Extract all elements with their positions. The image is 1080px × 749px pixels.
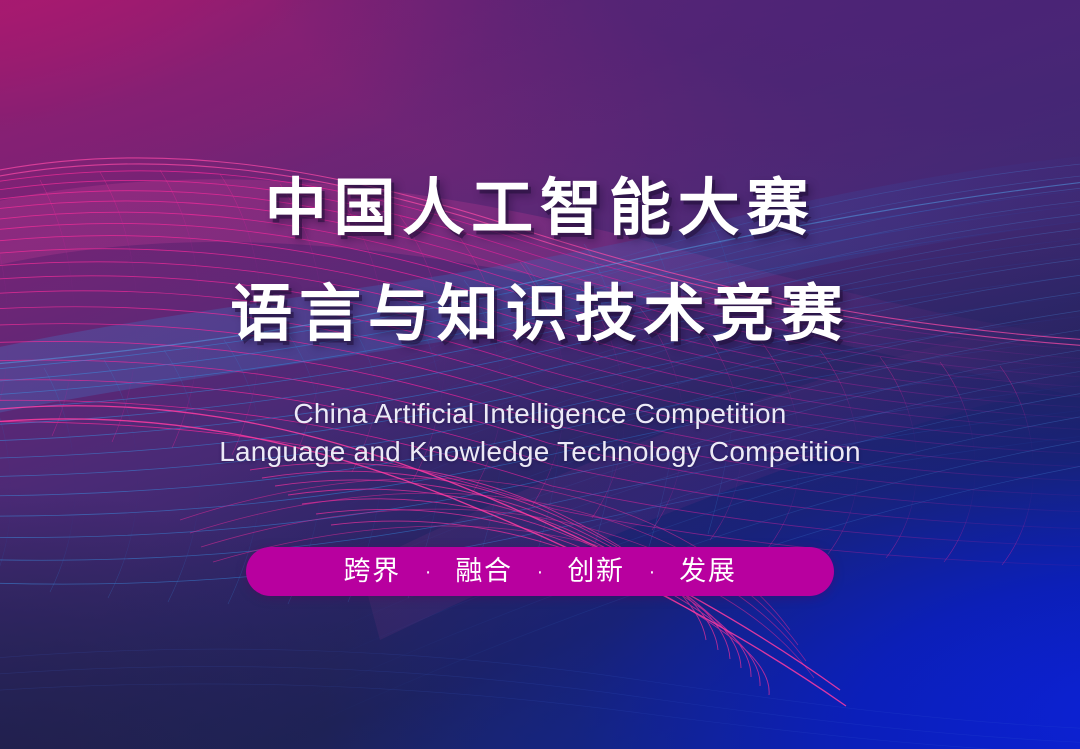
slogan-word: 跨界 (321, 558, 422, 585)
slogan-list: 跨界·融合·创新·发展 (321, 558, 758, 585)
slogan-separator: · (423, 562, 434, 582)
slogan-separator: · (535, 562, 546, 582)
slogan-separator: · (647, 562, 658, 582)
title-chinese-line1: 中国人工智能大赛 (0, 172, 1080, 244)
subtitle-english-line1: China Artificial Intelligence Competitio… (0, 394, 1080, 434)
slogan-badge: 跨界·融合·创新·发展 (246, 547, 834, 596)
slogan-word: 融合 (433, 558, 534, 585)
title-chinese-line2: 语言与知识技术竞赛 (0, 278, 1080, 350)
banner-content: 中国人工智能大赛 语言与知识技术竞赛 China Artificial Inte… (0, 0, 1080, 749)
slogan-word: 创新 (545, 558, 646, 585)
competition-banner: 中国人工智能大赛 语言与知识技术竞赛 China Artificial Inte… (0, 0, 1080, 749)
subtitle-english-line2: Language and Knowledge Technology Compet… (0, 432, 1080, 472)
slogan-word: 发展 (657, 558, 758, 585)
